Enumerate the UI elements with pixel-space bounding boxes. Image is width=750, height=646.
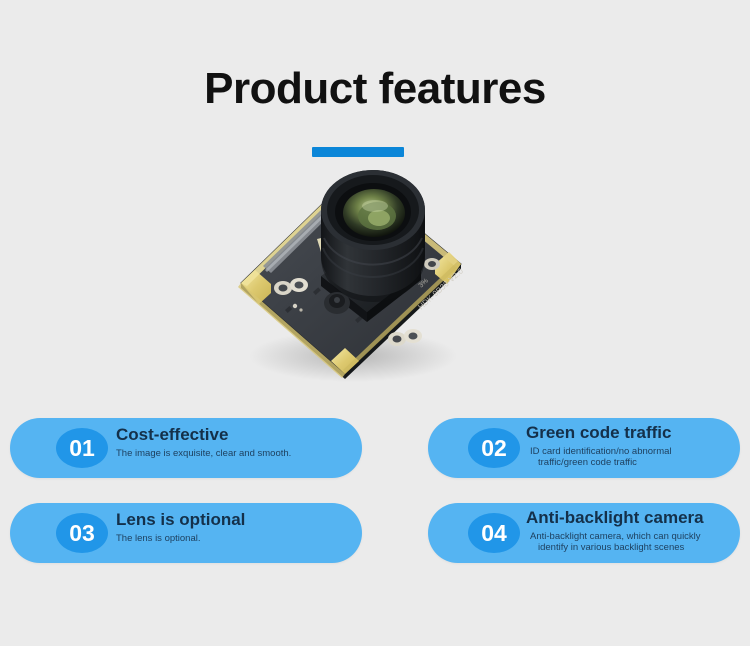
feature-desc-01: The image is exquisite, clear and smooth… xyxy=(116,448,352,459)
feature-desc-line2-04: identify in various backlight scenes xyxy=(530,542,730,553)
feature-card-02[interactable]: 02 Green code traffic ID card identifica… xyxy=(428,418,740,478)
feature-card-01[interactable]: 01 Cost-effective The image is exquisite… xyxy=(10,418,362,478)
feature-desc-03: The lens is optional. xyxy=(116,533,352,544)
feature-number-04: 04 xyxy=(481,522,507,545)
feature-desc-line1-03: The lens is optional. xyxy=(116,533,201,544)
feature-number-badge-02: 02 xyxy=(468,428,520,468)
feature-desc-04: Anti-backlight camera, which can quickly… xyxy=(526,531,730,553)
feature-number-badge-01: 01 xyxy=(56,428,108,468)
feature-desc-02: ID card identification/no abnormal traff… xyxy=(526,446,730,468)
feature-title-04: Anti-backlight camera xyxy=(526,507,730,528)
feature-desc-line2-02: traffic/green code traffic xyxy=(530,457,730,468)
product-features-page: Product features xyxy=(0,0,750,646)
feature-number-badge-03: 03 xyxy=(56,513,108,553)
feature-number-03: 03 xyxy=(69,522,95,545)
feature-card-list: 01 Cost-effective The image is exquisite… xyxy=(0,0,750,646)
feature-title-02: Green code traffic xyxy=(526,422,730,443)
feature-title-03: Lens is optional xyxy=(116,509,352,530)
feature-text-03: Lens is optional The lens is optional. xyxy=(116,509,352,544)
feature-card-03[interactable]: 03 Lens is optional The lens is optional… xyxy=(10,503,362,563)
feature-desc-line1-04: Anti-backlight camera, which can quickly xyxy=(530,531,701,542)
feature-number-01: 01 xyxy=(69,437,95,460)
feature-desc-line1-02: ID card identification/no abnormal xyxy=(530,446,672,457)
feature-card-04[interactable]: 04 Anti-backlight camera Anti-backlight … xyxy=(428,503,740,563)
feature-number-02: 02 xyxy=(481,437,507,460)
feature-text-01: Cost-effective The image is exquisite, c… xyxy=(116,424,352,459)
feature-number-badge-04: 04 xyxy=(468,513,520,553)
feature-text-02: Green code traffic ID card identificatio… xyxy=(526,422,730,468)
feature-title-01: Cost-effective xyxy=(116,424,352,445)
feature-desc-line1-01: The image is exquisite, clear and smooth… xyxy=(116,448,291,459)
feature-text-04: Anti-backlight camera Anti-backlight cam… xyxy=(526,507,730,553)
